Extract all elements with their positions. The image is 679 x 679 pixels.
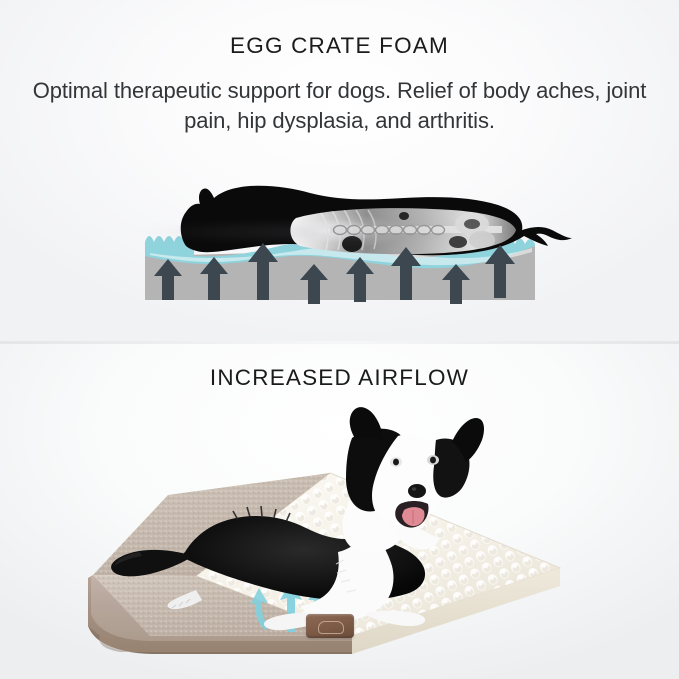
nose [408, 484, 426, 498]
headline-egg-crate-foam: EGG CRATE FOAM [0, 33, 679, 59]
brand-logo-patch [306, 614, 354, 638]
bed-drop-shadow [60, 215, 580, 249]
headline-increased-airflow: INCREASED AIRFLOW [0, 365, 679, 391]
marketing-infographic: EGG CRATE FOAM Optimal therapeutic suppo… [0, 0, 679, 679]
subcopy-egg-crate-foam: Optimal therapeutic support for dogs. Re… [22, 76, 657, 136]
ear-left [350, 407, 383, 440]
